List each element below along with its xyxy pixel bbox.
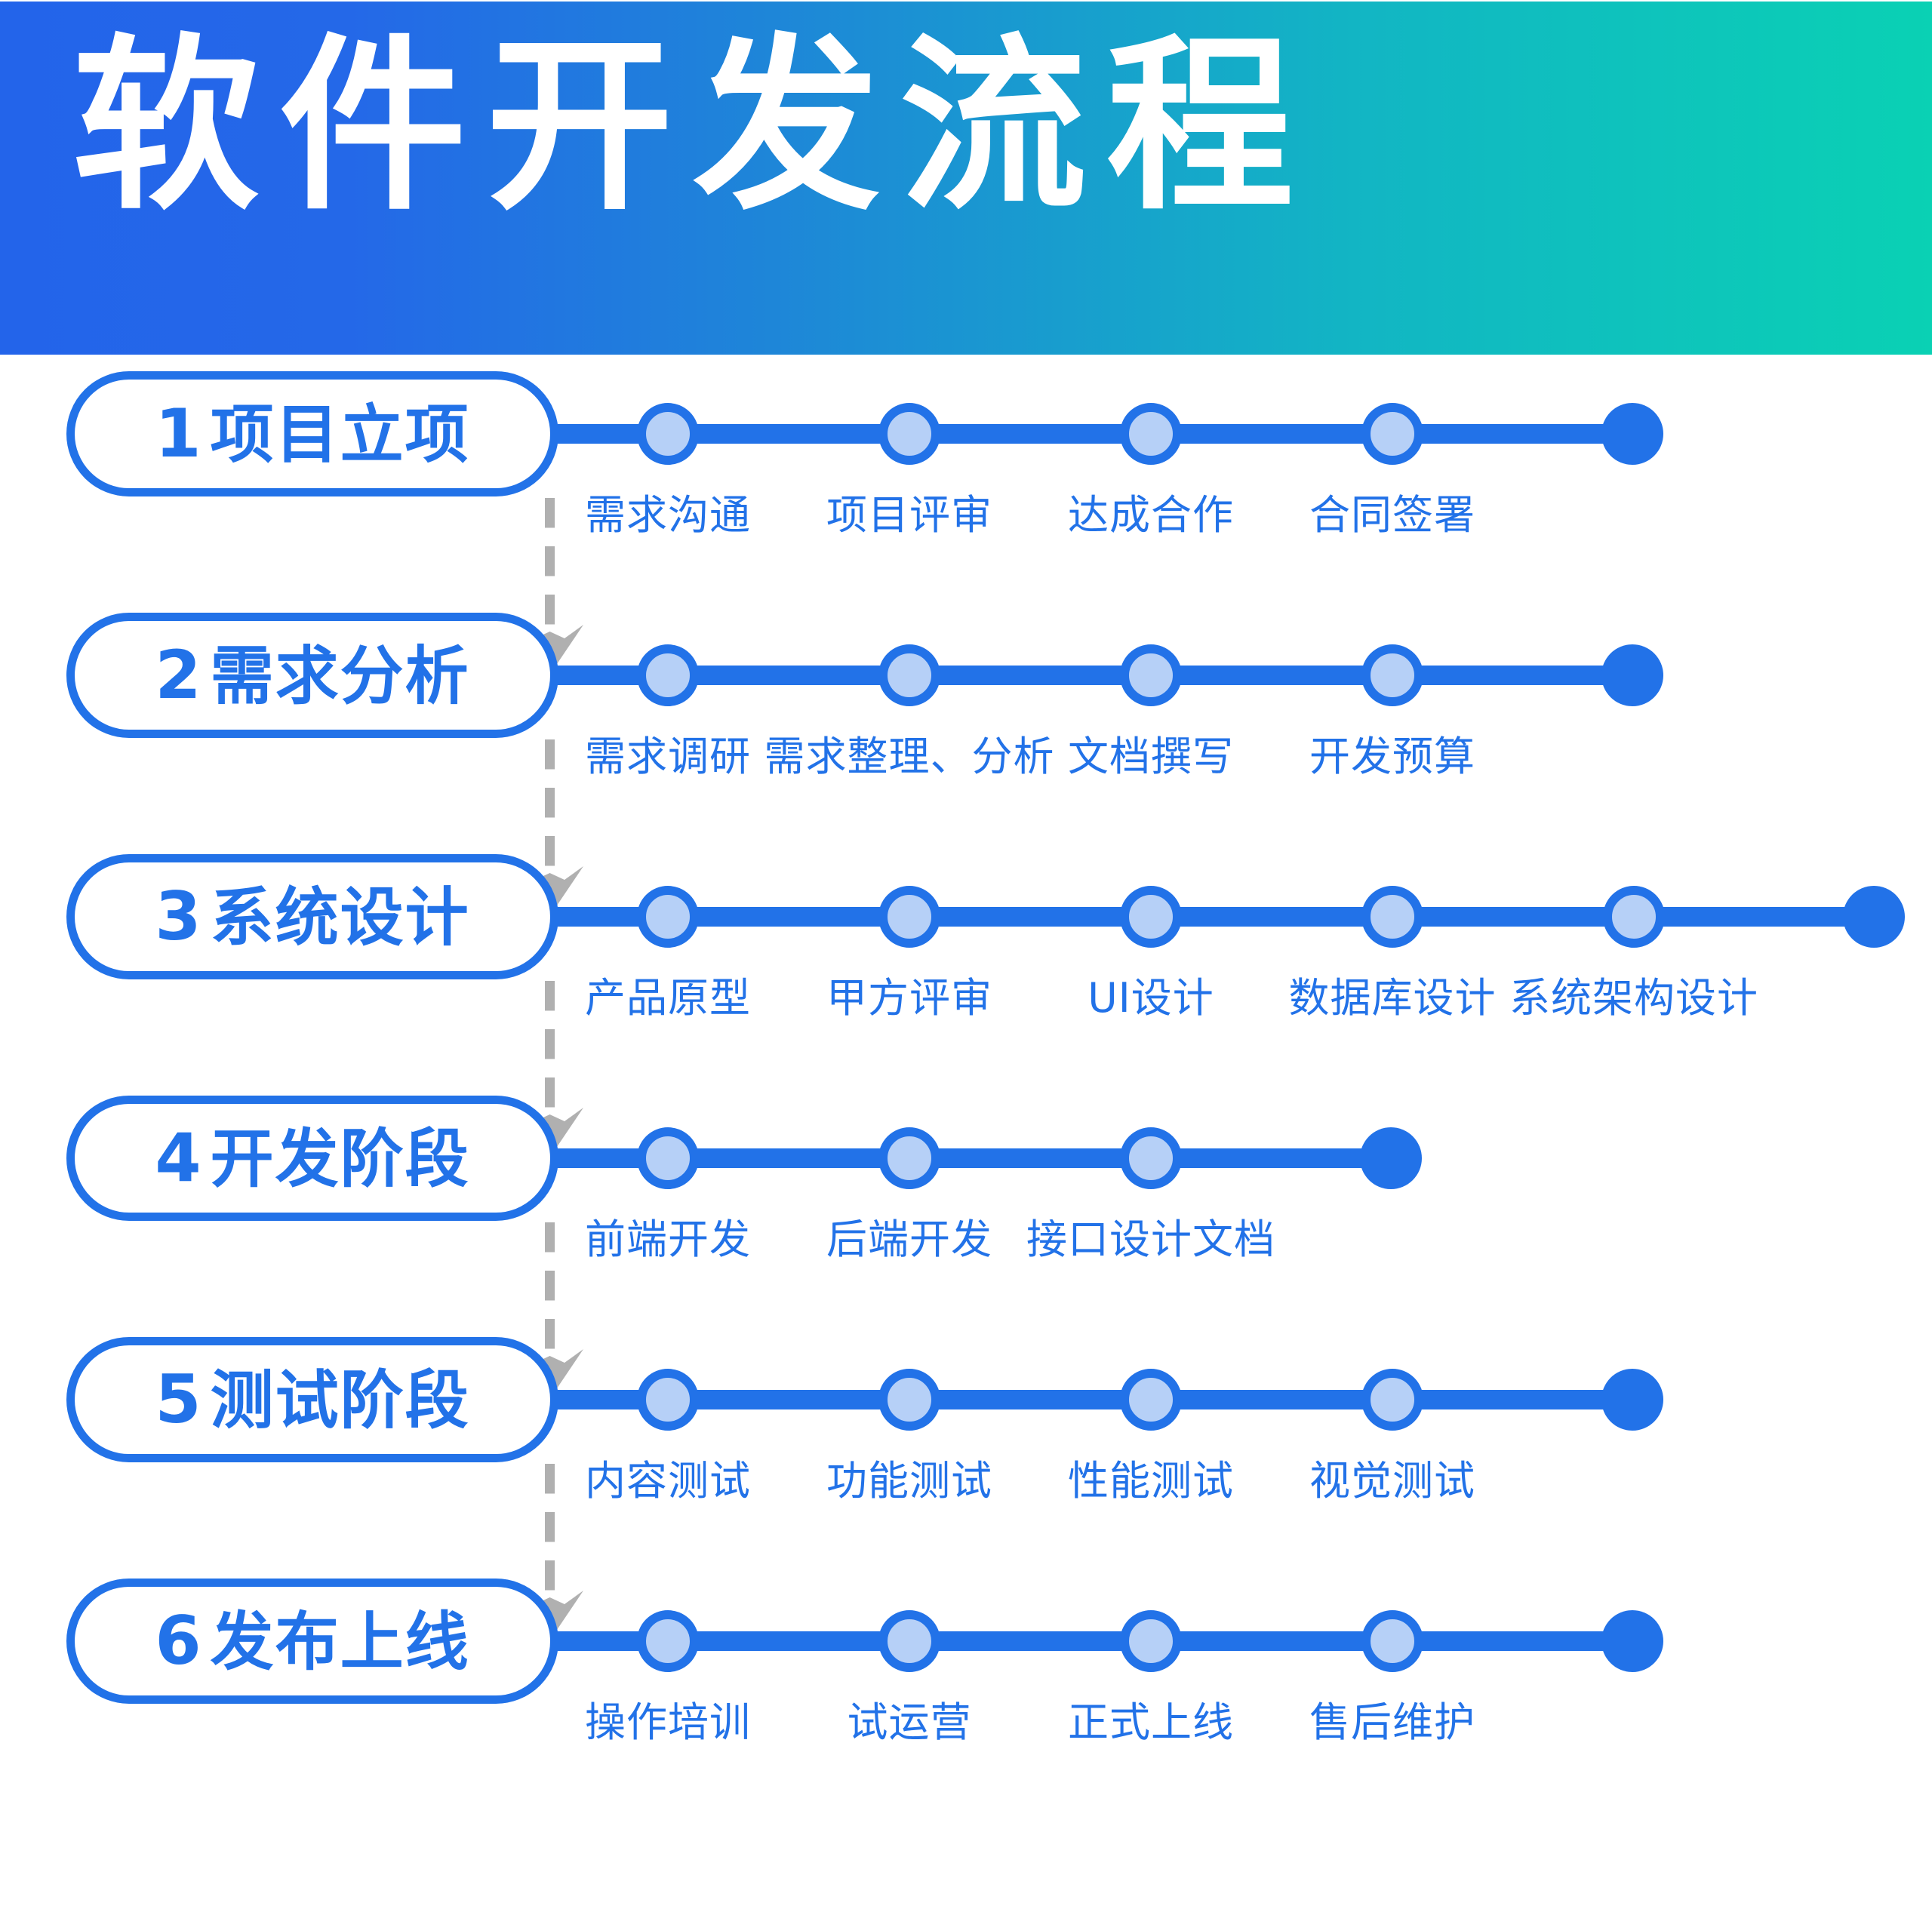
track-end-dot-icon [1601,403,1663,465]
track-end-dot-icon [1601,1610,1663,1672]
step-dot-icon[interactable] [878,644,940,706]
step-label: 前端开发 [585,1206,751,1265]
step-dot-icon[interactable] [1603,886,1665,948]
step-label: 系统架构设计 [1509,964,1758,1024]
step-dot-icon[interactable] [637,1127,699,1189]
step-label: 试运营 [848,1689,972,1748]
step-dot-icon[interactable] [637,886,699,948]
track-end-dot-icon [1601,1369,1663,1431]
step-dot-icon[interactable] [637,644,699,706]
stage-pill-label: 1项目立项 [155,401,469,467]
step-label: 正式上线 [1068,1689,1234,1748]
stage-pill-label: 4开发阶段 [155,1125,469,1191]
step-dot-icon[interactable] [637,1610,699,1672]
stage-number: 4 [155,1119,202,1197]
step-dot-icon[interactable] [878,403,940,465]
step-label: 甲方评审 [826,964,992,1024]
stage-row: 2需求分析需求调研需求整理、分析文档撰写开发预算 [0,596,1932,838]
stage-row: 6发布上线操作培训试运营正式上线售后维护 [0,1562,1932,1803]
step-label: 视觉测试 [1309,1447,1475,1507]
step-label: 操作培训 [585,1689,751,1748]
step-dot-icon[interactable] [1361,1369,1423,1431]
stage-pill-3[interactable]: 3系统设计 [66,854,558,979]
step-dot-icon[interactable] [1361,1610,1423,1672]
stage-pill-2[interactable]: 2需求分析 [66,613,558,738]
stage-pill-label: 3系统设计 [155,884,469,950]
step-dot-icon[interactable] [878,1127,940,1189]
stage-number: 6 [155,1602,202,1680]
step-label: 需求调研 [585,723,751,782]
stage-pill-label: 2需求分析 [155,642,469,709]
stage-row: 1项目立项需求沟通项目评审达成合作合同签署 [0,355,1932,596]
step-label: 产品原型 [585,964,751,1024]
step-label: UI设计 [1088,964,1214,1024]
stage-name: 需求分析 [211,639,470,713]
step-label: 数据库设计 [1289,964,1497,1024]
step-label: 接口设计文档 [1026,1206,1275,1265]
step-label: 性能测试 [1068,1447,1234,1507]
stage-name: 系统设计 [211,881,470,954]
infographic-page: 软件开发流程 1项目立项需求沟通项目评审达成合作合同签署2需求分析需求调研需求整… [0,0,1932,1909]
step-label: 功能测试 [826,1447,992,1507]
step-dot-icon[interactable] [878,1369,940,1431]
stage-name: 开发阶段 [211,1122,470,1196]
step-dot-icon[interactable] [1120,886,1182,948]
step-dot-icon[interactable] [1361,886,1423,948]
stage-pill-4[interactable]: 4开发阶段 [66,1096,558,1221]
stage-name: 测试阶段 [211,1363,470,1437]
stage-pill-label: 6发布上线 [155,1608,469,1674]
step-label: 达成合作 [1068,481,1234,541]
stage-pill-1[interactable]: 1项目立项 [66,371,558,496]
stage-pill-label: 5测试阶段 [155,1366,469,1433]
header-banner: 软件开发流程 [0,2,1932,355]
step-dot-icon[interactable] [1120,644,1182,706]
step-dot-icon[interactable] [1120,403,1182,465]
track-end-dot-icon [1843,886,1905,948]
stage-name: 发布上线 [211,1605,470,1679]
step-label: 内容测试 [585,1447,751,1507]
step-dot-icon[interactable] [1361,403,1423,465]
stage-number: 1 [155,395,202,472]
stage-row: 3系统设计产品原型甲方评审UI设计数据库设计系统架构设计 [0,838,1932,1079]
step-label: 合同签署 [1309,481,1475,541]
step-label: 售后维护 [1309,1689,1475,1748]
stage-number: 5 [155,1360,202,1438]
step-dot-icon[interactable] [878,886,940,948]
step-label: 开发预算 [1309,723,1475,782]
step-dot-icon[interactable] [1361,644,1423,706]
stage-row: 5测试阶段内容测试功能测试性能测试视觉测试 [0,1320,1932,1562]
stage-pill-6[interactable]: 6发布上线 [66,1579,558,1704]
track-end-dot-icon [1601,644,1663,706]
track-end-dot-icon [1360,1127,1422,1189]
page-title: 软件开发流程 [72,33,1313,220]
step-dot-icon[interactable] [1120,1610,1182,1672]
step-dot-icon[interactable] [637,403,699,465]
step-dot-icon[interactable] [637,1369,699,1431]
step-dot-icon[interactable] [1120,1127,1182,1189]
stage-name: 项目立项 [211,398,470,472]
process-flow: 1项目立项需求沟通项目评审达成合作合同签署2需求分析需求调研需求整理、分析文档撰… [0,355,1932,1909]
step-dot-icon[interactable] [878,1610,940,1672]
step-dot-icon[interactable] [1120,1369,1182,1431]
step-label: 项目评审 [826,481,992,541]
step-label: 文档撰写 [1068,723,1234,782]
stage-number: 3 [155,878,202,955]
stage-pill-5[interactable]: 5测试阶段 [66,1337,558,1462]
stage-number: 2 [155,636,202,714]
stage-row: 4开发阶段前端开发后端开发接口设计文档 [0,1079,1932,1320]
step-label: 需求沟通 [585,481,751,541]
step-label: 需求整理、分析 [764,723,1055,782]
step-label: 后端开发 [826,1206,992,1265]
